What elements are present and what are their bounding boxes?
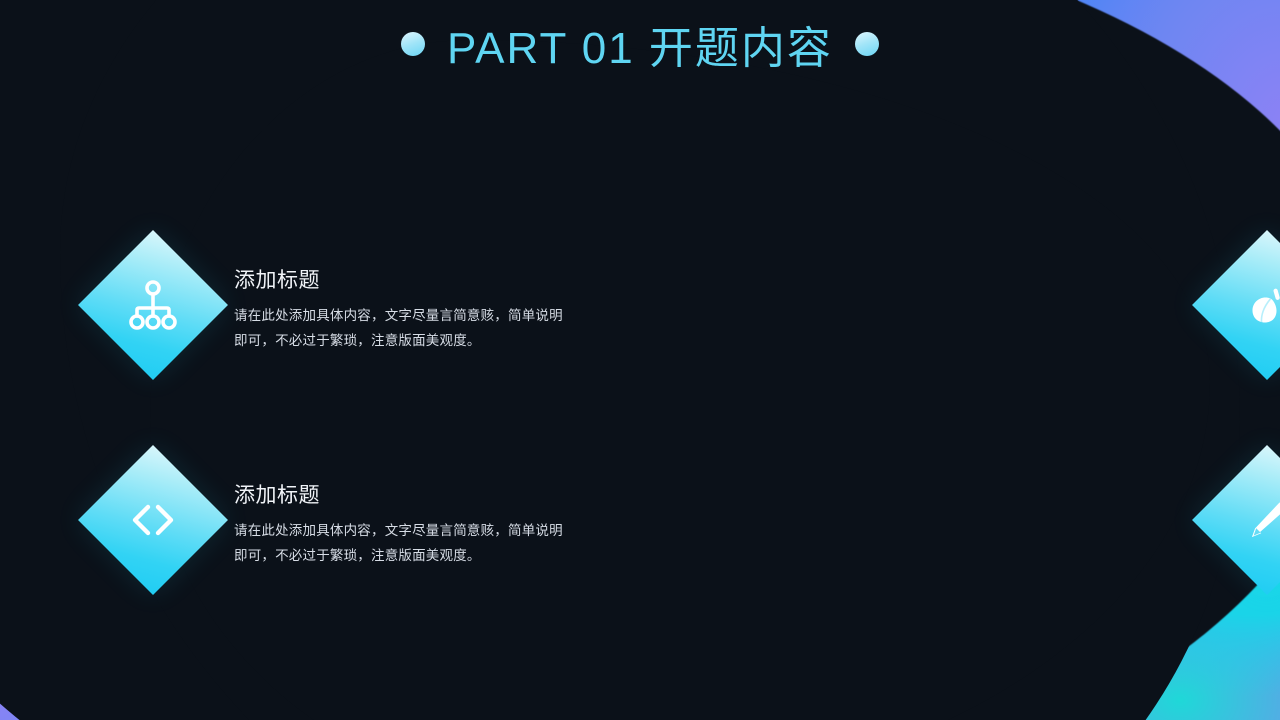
feature-text-1: 添加标题 请在此处添加具体内容，文字尽量言简意赅，简单说明即可，不必过于繁琐，注… — [234, 230, 564, 353]
slide-title-row: PART 01 开题内容 — [0, 12, 1280, 76]
page-title: PART 01 开题内容 — [447, 12, 833, 76]
feature-body-3: 请在此处添加具体内容，文字尽量言简意赅，简单说明即可，不必过于繁琐，注意版面美观… — [234, 518, 564, 568]
feature-title-3: 添加标题 — [234, 479, 564, 509]
feature-text-3: 添加标题 请在此处添加具体内容，文字尽量言简意赅，简单说明即可，不必过于繁琐，注… — [234, 445, 564, 568]
feature-title-1: 添加标题 — [234, 264, 564, 294]
sitemap-icon — [78, 230, 228, 380]
click-seed-icon — [1192, 230, 1280, 380]
slide-canvas: PART 01 开题内容 — [0, 0, 1280, 720]
content-grid: 添加标题 请在此处添加具体内容，文字尽量言简意赅，简单说明即可，不必过于繁琐，注… — [0, 230, 1280, 660]
bullet-dot-icon-right — [855, 32, 879, 56]
feature-body-1: 请在此处添加具体内容，文字尽量言简意赅，简单说明即可，不必过于繁琐，注意版面美观… — [234, 303, 564, 353]
pencil-icon — [1192, 445, 1280, 595]
feature-block-2[interactable]: 添加标题 请在此处添加具体内容，文字尽量言简意赅，简单说明即可，不必过于繁琐，注… — [564, 230, 1280, 445]
feature-block-4[interactable]: 添加标题 请在此处添加具体内容，文字尽量言简意赅，简单说明即可，不必过于繁琐，注… — [564, 445, 1280, 660]
bullet-dot-icon-left — [401, 32, 425, 56]
content-row-2: 添加标题 请在此处添加具体内容，文字尽量言简意赅，简单说明即可，不必过于繁琐，注… — [0, 445, 1280, 660]
feature-block-3[interactable]: 添加标题 请在此处添加具体内容，文字尽量言简意赅，简单说明即可，不必过于繁琐，注… — [0, 445, 564, 660]
code-brackets-icon — [78, 445, 228, 595]
feature-block-1[interactable]: 添加标题 请在此处添加具体内容，文字尽量言简意赅，简单说明即可，不必过于繁琐，注… — [0, 230, 564, 445]
content-row-1: 添加标题 请在此处添加具体内容，文字尽量言简意赅，简单说明即可，不必过于繁琐，注… — [0, 230, 1280, 445]
